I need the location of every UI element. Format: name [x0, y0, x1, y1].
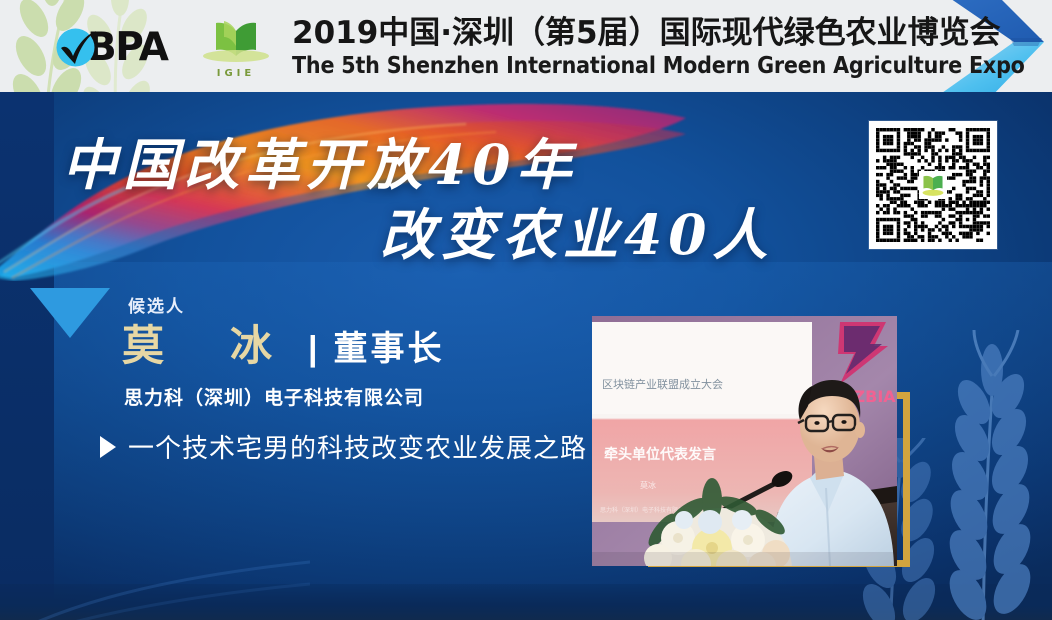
candidate-name-row: 莫 冰 | 董事长	[122, 325, 445, 367]
igie-book-leaf-icon	[198, 19, 274, 65]
triangle-marker-icon	[30, 288, 110, 338]
svg-text:区块链产业联盟成立大会: 区块链产业联盟成立大会	[602, 377, 723, 391]
bpa-logo-text: BPA	[87, 28, 167, 67]
candidate-photo-image: 区块链产业联盟成立大会 牵头单位代表发言 莫冰 思力科（深圳）电子科技有限公司 …	[592, 316, 897, 566]
headline-line-2: 改变农业40人	[380, 190, 774, 270]
qr-code[interactable]	[869, 121, 997, 249]
expo-title-en: The 5th Shenzhen International Modern Gr…	[292, 54, 1025, 79]
bpa-mark-icon	[52, 24, 99, 71]
candidate-tagline: 一个技术宅男的科技改变农业发展之路	[100, 428, 587, 465]
candidate-photo: 区块链产业联盟成立大会 牵头单位代表发言 莫冰 思力科（深圳）电子科技有限公司 …	[592, 316, 897, 566]
igie-logo-icon	[920, 172, 946, 198]
poster-root: 中国改革开放40年 改变农业40人 候选人 莫 冰 | 董事长 思力科（深圳）电…	[0, 0, 1052, 620]
candidate-tagline-text: 一个技术宅男的科技改变农业发展之路	[128, 428, 587, 465]
swoosh-decoration	[0, 520, 310, 620]
igie-logo: IGIE	[198, 19, 274, 81]
candidate-label: 候选人	[128, 292, 185, 317]
expo-header: BPA IGIE 2019中国·深圳（第5届）国际现代绿色农业博览会 The 5…	[0, 0, 1052, 92]
candidate-name: 莫 冰	[122, 325, 284, 367]
svg-text:牵头单位代表发言: 牵头单位代表发言	[604, 446, 716, 463]
expo-title-zh: 2019中国·深圳（第5届）国际现代绿色农业博览会	[292, 16, 1001, 52]
play-triangle-icon	[100, 436, 116, 458]
qr-center-logo	[919, 171, 947, 199]
candidate-company: 思力科（深圳）电子科技有限公司	[124, 383, 424, 410]
candidate-role: 董事长	[334, 332, 445, 366]
candidate-separator: |	[308, 332, 318, 366]
svg-text:莫冰: 莫冰	[640, 480, 656, 490]
igie-logo-text: IGIE	[198, 68, 274, 79]
bpa-logo: BPA	[52, 22, 180, 72]
headline-line-1: 中国改革开放40年	[62, 120, 578, 200]
